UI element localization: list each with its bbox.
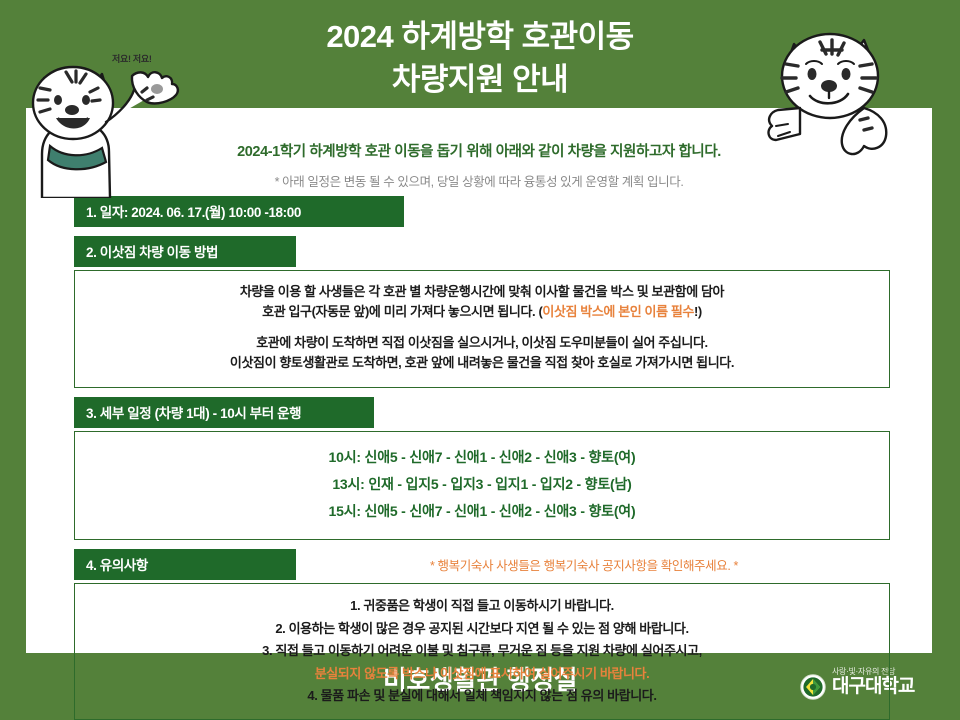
waving-tiger-mascot-icon: [14, 48, 204, 198]
method-para2-line2: 이삿짐이 향토생활관로 도착하면, 호관 앞에 내려놓은 물건을 직접 찾아 호…: [83, 353, 881, 373]
section-method-box: 차량을 이용 할 사생들은 각 호관 별 차량운행시간에 맞춰 이사할 물건을 …: [74, 270, 890, 388]
method-para1-line1: 차량을 이용 할 사생들은 각 호관 별 차량운행시간에 맞춰 이사할 물건을 …: [83, 282, 881, 302]
section-notes-header-note: * 행복기숙사 사생들은 행복기숙사 공지사항을 확인해주세요. *: [296, 555, 890, 574]
section-date: 1. 일자: 2024. 06. 17.(월) 10:00 -18:00: [74, 196, 890, 227]
method-para2-line1: 호관에 차량이 도착하면 직접 이삿짐을 실으시거나, 이삿짐 도우미분들이 실…: [83, 333, 881, 353]
schedule-route-3: 15시: 신애5 - 신애7 - 신애1 - 신애2 - 신애3 - 향토(여): [83, 498, 881, 525]
notes-item-4: 4. 물품 파손 및 분실에 대해서 일체 책임지지 않는 점 유의 바랍니다.: [83, 685, 881, 707]
mascot-speech-bubble-text: 저요! 저요!: [112, 52, 152, 65]
notes-item-2: 2. 이용하는 학생이 많은 경우 공지된 시간보다 지연 될 수 있는 점 양…: [83, 618, 881, 640]
peeking-tiger-mascot-icon: [760, 8, 950, 158]
sections-container: 1. 일자: 2024. 06. 17.(월) 10:00 -18:00 2. …: [74, 196, 890, 720]
section-schedule: 3. 세부 일정 (차량 1대) - 10시 부터 운행: [74, 397, 890, 428]
method-para1-line2-plain: 호관 입구(자동문 앞)에 미리 가져다 놓으시면 됩니다. (: [262, 304, 542, 319]
section-notes-heading: 4. 유의사항: [74, 549, 296, 580]
notes-item-1: 1. 귀중품은 학생이 직접 들고 이동하시기 바랍니다.: [83, 595, 881, 617]
section-method: 2. 이삿짐 차량 이동 방법: [74, 236, 890, 267]
schedule-route-1: 10시: 신애5 - 신애7 - 신애1 - 신애2 - 신애3 - 향토(여): [83, 444, 881, 471]
method-para1-line2: 호관 입구(자동문 앞)에 미리 가져다 놓으시면 됩니다. (이삿짐 박스에 …: [83, 302, 881, 322]
schedule-route-2: 13시: 인재 - 입지5 - 입지3 - 입지1 - 입지2 - 향토(남): [83, 471, 881, 498]
method-para1-line2-tail: !): [694, 304, 702, 319]
section-schedule-heading: 3. 세부 일정 (차량 1대) - 10시 부터 운행: [74, 397, 374, 428]
method-highlight-name-required: 이삿짐 박스에 본인 이름 필수: [542, 304, 694, 319]
section-schedule-box: 10시: 신애5 - 신애7 - 신애1 - 신애2 - 신애3 - 향토(여)…: [74, 431, 890, 541]
section-notes-box: 1. 귀중품은 학생이 직접 들고 이동하시기 바랍니다. 2. 이용하는 학생…: [74, 583, 890, 720]
poster-root: 2024 하계방학 호관이동 차량지원 안내: [0, 0, 960, 720]
notes-item-3-highlight: 분실되지 않도록 박스나 이삿짐에 표시하여 실어주시기 바랍니다.: [83, 663, 881, 685]
section-method-heading: 2. 이삿짐 차량 이동 방법: [74, 236, 296, 267]
section-notes: 4. 유의사항 * 행복기숙사 사생들은 행복기숙사 공지사항을 확인해주세요.…: [74, 549, 890, 580]
notes-item-3: 3. 직접 들고 이동하기 어려운 이불 및 침구류, 무거운 짐 등을 지원 …: [83, 640, 881, 662]
section-date-heading: 1. 일자: 2024. 06. 17.(월) 10:00 -18:00: [74, 196, 404, 227]
